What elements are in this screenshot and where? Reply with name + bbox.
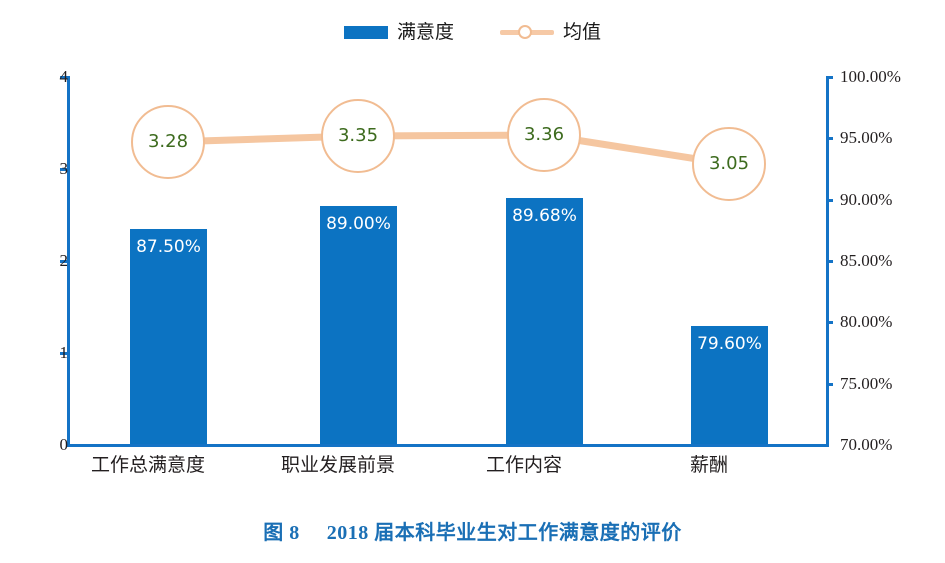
x-axis-category-label-3: 薪酬 <box>619 456 799 475</box>
x-axis-category-label-0: 工作总满意度 <box>58 456 238 475</box>
chart-legend: 满意度 均值 <box>0 14 945 50</box>
y-axis-right-tick-90 <box>826 199 833 202</box>
x-axis-category-label-1: 职业发展前景 <box>248 456 428 475</box>
y-axis-right-label-100: 100.00% <box>840 68 901 85</box>
y-axis-left-label-0: 0 <box>60 436 69 453</box>
y-axis-right-label-80: 80.00% <box>840 313 892 330</box>
y-axis-right-label-70: 70.00% <box>840 436 892 453</box>
bar-value-label-1: 89.00% <box>320 216 397 233</box>
x-axis-line <box>67 444 829 447</box>
figure-caption: 图 8 2018 届本科毕业生对工作满意度的评价 <box>0 516 945 545</box>
legend-bar-swatch-icon <box>344 26 388 39</box>
mean-marker-3[interactable]: 3.05 <box>692 127 766 201</box>
y-axis-left-label-4: 4 <box>60 68 69 85</box>
mean-line-path <box>168 135 729 164</box>
legend-line-circle-icon <box>500 24 554 40</box>
y-axis-right-label-90: 90.00% <box>840 191 892 208</box>
y-axis-right-label-85: 85.00% <box>840 252 892 269</box>
y-axis-right-tick-85 <box>826 260 833 263</box>
y-axis-right-label-75: 75.00% <box>840 375 892 392</box>
mean-marker-0[interactable]: 3.28 <box>131 105 205 179</box>
x-axis-category-label-2: 工作内容 <box>434 456 614 475</box>
figure-caption-title: 2018 届本科毕业生对工作满意度的评价 <box>327 522 682 544</box>
legend-label-satisfaction: 满意度 <box>397 23 454 42</box>
mean-marker-1[interactable]: 3.35 <box>321 99 395 173</box>
bar-value-label-2: 89.68% <box>506 208 583 225</box>
y-axis-right-tick-80 <box>826 321 833 324</box>
bar-satisfaction-0[interactable]: 87.50% <box>130 229 207 444</box>
legend-label-mean: 均值 <box>563 23 601 42</box>
mean-value-label-1: 3.35 <box>338 127 378 145</box>
bar-value-label-3: 79.60% <box>691 336 768 353</box>
figure-caption-number: 图 8 <box>263 522 300 544</box>
y-axis-right-label-95: 95.00% <box>840 129 892 146</box>
legend-circle-marker <box>518 25 532 39</box>
y-axis-right-tick-75 <box>826 383 833 386</box>
y-axis-right-tick-100 <box>826 76 833 79</box>
y-axis-left-label-3: 3 <box>60 160 69 177</box>
bar-value-label-0: 87.50% <box>130 239 207 256</box>
bar-satisfaction-3[interactable]: 79.60% <box>691 326 768 444</box>
mean-value-label-3: 3.05 <box>709 155 749 173</box>
bar-satisfaction-2[interactable]: 89.68% <box>506 198 583 444</box>
legend-item-mean[interactable]: 均值 <box>500 23 601 42</box>
mean-value-label-2: 3.36 <box>524 126 564 144</box>
figure-chart-job-satisfaction: 满意度 均值 4 3 2 1 0 1 <box>0 0 945 563</box>
legend-item-satisfaction[interactable]: 满意度 <box>344 23 454 42</box>
mean-value-label-0: 3.28 <box>148 133 188 151</box>
y-axis-left-label-2: 2 <box>60 252 69 269</box>
plot-area: 4 3 2 1 0 100.00% 95.00% 90.00% 85.00% 8… <box>70 76 826 444</box>
bar-satisfaction-1[interactable]: 89.00% <box>320 206 397 444</box>
mean-marker-2[interactable]: 3.36 <box>507 98 581 172</box>
y-axis-right-tick-95 <box>826 137 833 140</box>
y-axis-left-label-1: 1 <box>60 344 69 361</box>
